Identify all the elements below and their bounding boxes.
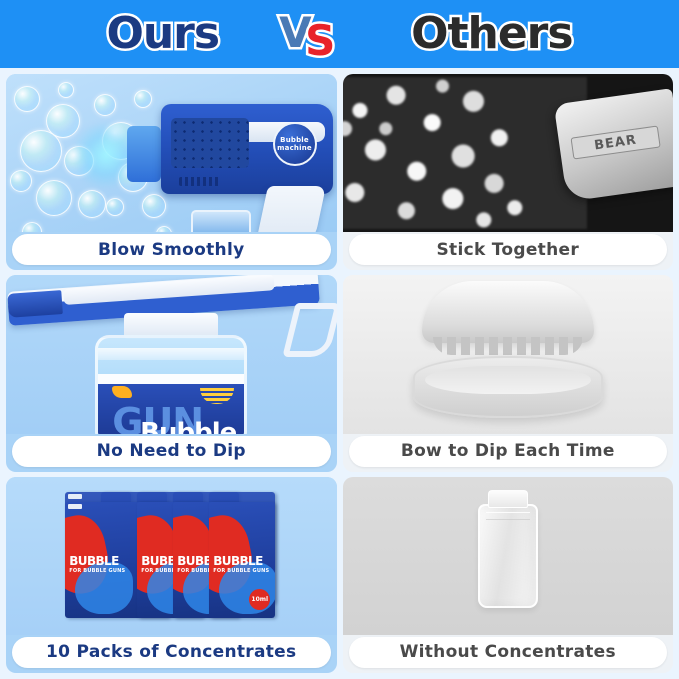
bubble-icon xyxy=(14,86,40,112)
gun-bottle xyxy=(191,210,251,232)
pack-volume-badge: 10ml xyxy=(249,589,270,610)
vs-letter-s: S xyxy=(305,20,335,62)
header-banner: Ours V S Others xyxy=(0,0,679,68)
bubble-icon xyxy=(94,94,116,116)
bubble-icon xyxy=(156,226,172,232)
bubble-icon xyxy=(78,190,106,218)
wand-head xyxy=(422,281,594,343)
bottle-word-bubble: Bubble xyxy=(140,418,236,433)
sachet-stack: BUBBLE FOR BUBBLE GUNS 10ml BUBBLE FOR B… xyxy=(65,492,277,620)
bottle-swoosh xyxy=(200,388,234,404)
bubble-icon xyxy=(10,170,32,192)
empty-bottle-scene xyxy=(343,477,674,635)
gun-barrel-highlight xyxy=(63,275,274,305)
competitor-brand-text: BEAR xyxy=(593,132,638,153)
image-ours-no-need-to-dip: GUN Bubble xyxy=(6,275,337,433)
dipping-tray xyxy=(413,356,603,418)
cell-others-row2: Bow to Dip Each Time xyxy=(343,275,674,471)
caption-text: 10 Packs of Concentrates xyxy=(46,642,296,662)
vs-badge: V S xyxy=(277,8,353,60)
bubble-icon xyxy=(106,198,124,216)
competitor-brand-label: BEAR xyxy=(570,126,660,160)
gun-badge: Bubble machine xyxy=(273,122,317,166)
header-ours-label: Ours xyxy=(106,12,219,56)
caption-text: Without Concentrates xyxy=(400,642,616,662)
caption-ours-row2: No Need to Dip xyxy=(12,436,331,467)
gun-badge-label: Bubble machine xyxy=(275,136,315,152)
cell-ours-row2: GUN Bubble No Need to Dip xyxy=(6,275,337,471)
sachet-pack-front: BUBBLE FOR BUBBLE GUNS 10ml xyxy=(209,502,275,618)
bubble-gun-body: Bubble machine xyxy=(161,104,333,194)
bubble-icon xyxy=(20,130,62,172)
sachet-packs-scene: BUBBLE FOR BUBBLE GUNS 10ml BUBBLE FOR B… xyxy=(6,477,337,635)
caption-text: Stick Together xyxy=(436,240,579,260)
caption-others-row1: Stick Together xyxy=(349,234,668,265)
gun-barrel-tip xyxy=(7,290,63,318)
caption-text: Bow to Dip Each Time xyxy=(401,441,615,461)
caption-others-row2: Bow to Dip Each Time xyxy=(349,436,668,467)
bubble-gun-scene: Bubble machine xyxy=(6,74,337,232)
pack-notch xyxy=(68,504,82,509)
image-others-stick-together: BEAR xyxy=(343,74,674,232)
gun-grille xyxy=(171,118,249,168)
cell-others-row1: BEAR Stick Together xyxy=(343,74,674,270)
bubble-icon xyxy=(36,180,72,216)
competitor-gun: BEAR xyxy=(554,88,673,202)
caption-others-row3: Without Concentrates xyxy=(349,637,668,668)
image-others-bow-to-dip xyxy=(343,275,674,433)
image-ours-blow-smoothly: Bubble machine xyxy=(6,74,337,232)
empty-bottle xyxy=(478,504,538,608)
gun-vent xyxy=(179,177,221,186)
cell-others-row3: Without Concentrates xyxy=(343,477,674,673)
wand-and-tray-scene xyxy=(343,275,674,433)
caption-text: Blow Smoothly xyxy=(98,240,244,260)
caption-ours-row1: Blow Smoothly xyxy=(12,234,331,265)
caption-ours-row3: 10 Packs of Concentrates xyxy=(12,637,331,668)
image-ours-concentrate-packs: BUBBLE FOR BUBBLE GUNS 10ml BUBBLE FOR B… xyxy=(6,477,337,635)
image-others-empty-bottle xyxy=(343,477,674,635)
comparison-infographic: Ours V S Others xyxy=(0,0,679,679)
caption-text: No Need to Dip xyxy=(97,441,246,461)
foam-clump-scene: BEAR xyxy=(343,74,674,232)
pack-title: BUBBLE xyxy=(213,554,273,568)
bubble-icon xyxy=(22,222,42,232)
bubble-icon xyxy=(134,90,152,108)
gun-with-bottle-scene: GUN Bubble xyxy=(6,275,337,433)
gun-nozzle xyxy=(127,126,161,182)
pack-subtitle: FOR BUBBLE GUNS xyxy=(213,568,273,574)
foam-mass xyxy=(343,77,588,229)
tray-inner xyxy=(425,366,591,394)
header-others-label: Others xyxy=(411,12,573,56)
solution-bottle: GUN Bubble xyxy=(95,335,247,433)
bottle-label-stripe xyxy=(98,374,244,384)
bottle-thread-ring xyxy=(486,512,530,520)
bubble-icon xyxy=(58,82,74,98)
bottle-label: GUN Bubble xyxy=(98,384,244,433)
pack-notch xyxy=(68,494,82,499)
cell-ours-row3: BUBBLE FOR BUBBLE GUNS 10ml BUBBLE FOR B… xyxy=(6,477,337,673)
comparison-grid: Bubble machine Blow Smoothly xyxy=(0,68,679,679)
gun-trigger-guard xyxy=(282,303,337,357)
bottle-accent-shape xyxy=(112,386,132,398)
cell-ours-row1: Bubble machine Blow Smoothly xyxy=(6,74,337,270)
bottle-ring xyxy=(98,348,244,360)
bubble-icon xyxy=(142,194,166,218)
bottle-cap xyxy=(488,490,528,508)
wand-teeth xyxy=(433,337,583,355)
